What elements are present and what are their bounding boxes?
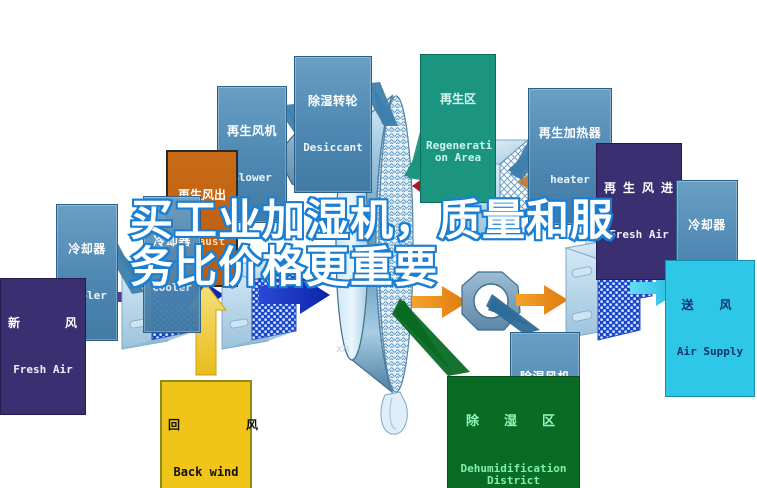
label-regeneration-area-cn: 再生区 bbox=[426, 93, 490, 106]
label-fresh-air-in-cn: 新 风 bbox=[8, 317, 78, 330]
label-back-wind-en: Back wind bbox=[168, 466, 244, 479]
label-cooler-mid: 冷却器 Cooler bbox=[143, 196, 201, 333]
label-regeneration-area: 再生区 Regenerati on Area bbox=[420, 54, 496, 203]
label-dehumidification-district-cn: 除 湿 区 bbox=[455, 415, 572, 429]
label-air-supply: 送 风 Air Supply bbox=[665, 260, 755, 397]
label-fresh-air-in: 新 风 Fresh Air bbox=[0, 278, 86, 415]
label-regen-blower-cn: 再生风机 bbox=[224, 125, 280, 138]
label-regeneration-area-en: Regenerati on Area bbox=[426, 140, 490, 164]
dry-air-arrow-1 bbox=[412, 286, 468, 318]
label-regen-heater-cn: 再生加热器 bbox=[535, 127, 605, 140]
label-air-supply-en: Air Supply bbox=[673, 346, 747, 358]
label-regen-fresh-air-en: Fresh Air bbox=[604, 229, 674, 241]
label-air-supply-cn: 送 风 bbox=[673, 299, 747, 312]
svg-text:xn: xn bbox=[336, 342, 350, 355]
dehumidifier-schematic-image: xn bbox=[0, 0, 757, 488]
label-desiccant-wheel-en: Desiccant bbox=[301, 142, 365, 154]
label-cooler-mid-cn: 冷却器 bbox=[150, 235, 194, 248]
label-desiccant-wheel: 除湿转轮 Desiccant bbox=[294, 56, 372, 193]
label-regen-heater-en: heater bbox=[535, 174, 605, 186]
label-cooler-left-cn: 冷却器 bbox=[63, 243, 111, 256]
label-fresh-air-in-en: Fresh Air bbox=[8, 364, 78, 376]
label-back-wind: 回 风 Back wind bbox=[160, 380, 252, 488]
label-dehumidification-district-en: Dehumidification District bbox=[455, 463, 572, 487]
dry-air-arrow-2 bbox=[516, 285, 568, 315]
label-cooler-mid-en: Cooler bbox=[150, 282, 194, 294]
label-dehumidification-district: 除 湿 区 Dehumidification District bbox=[447, 376, 580, 488]
label-desiccant-wheel-cn: 除湿转轮 bbox=[301, 95, 365, 108]
label-back-wind-cn: 回 风 bbox=[168, 419, 244, 432]
label-cooler-right-cn: 冷却器 bbox=[683, 219, 731, 232]
label-regen-fresh-air-cn: 再生风进 bbox=[604, 182, 674, 195]
